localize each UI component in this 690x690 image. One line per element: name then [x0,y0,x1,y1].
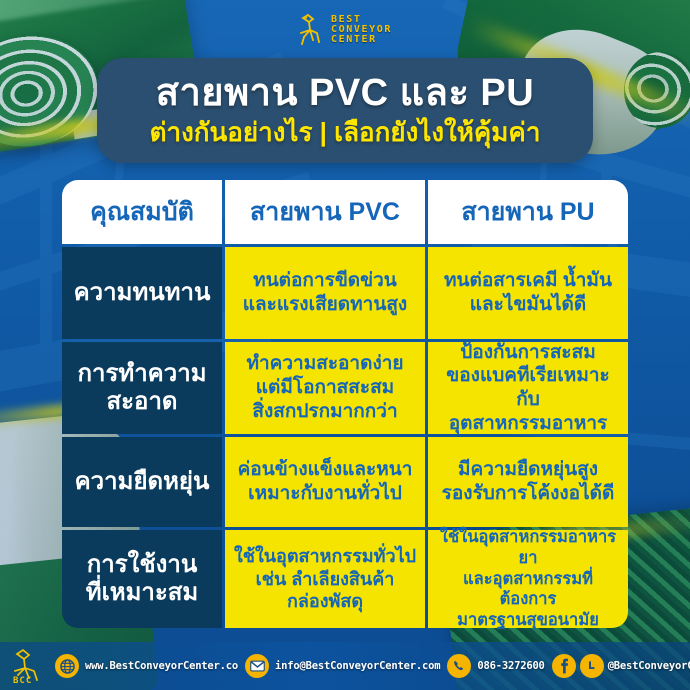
phone-number: 086-3272600 [477,660,544,672]
row-attribute-flexibility: ความยืดหยุ่น [62,437,222,527]
comparison-table: คุณสมบัติ สายพาน PVC สายพาน PU ความทนทาน… [62,180,628,628]
column-header-attribute: คุณสมบัติ [62,180,222,244]
cell-pvc-cleaning: ทำความสะอาดง่าย แต่มีโอกาสสะสม สิ่งสกปรก… [225,342,425,434]
text-line: ใช้ในอุตสาหกรรมอาหาร ยา [436,527,620,568]
cell-pu-durability: ทนต่อสารเคมี น้ำมัน และไขมันได้ดี [428,247,628,339]
cell-pvc-flexibility: ค่อนข้างแข็งและหนา เหมาะกับงานทั่วไป [225,437,425,527]
conveyor-mascot-icon [298,13,324,47]
cell-pu-cleaning: ป้องกันการสะสม ของแบคทีเรียเหมาะกับ อุตส… [428,342,628,434]
title-banner: สายพาน PVC และ PU ต่างกันอย่างไร | เลือก… [97,58,593,163]
footer-social[interactable]: @BestConveyorCenter [552,654,690,678]
table-header-row: คุณสมบัติ สายพาน PVC สายพาน PU [62,180,628,244]
text-line: แต่มีโอกาสสะสม [246,376,403,400]
text-line: เช่น ลำเลียงสินค้า [234,568,416,591]
email-address: info@BestConveyorCenter.com [275,660,440,672]
table-row: การทำความ สะอาด ทำความสะอาดง่าย แต่มีโอก… [62,342,628,434]
text-line: สิ่งสกปรกมากกว่า [246,400,403,424]
footer-email[interactable]: info@BestConveyorCenter.com [245,654,440,678]
table-row: ความทนทาน ทนต่อการขีดข่วน และแรงเสียดทาน… [62,247,628,339]
text-line: ป้องกันการสะสม [436,341,620,365]
row-attribute-application: การใช้งาน ที่เหมาะสม [62,530,222,628]
footer-contact-bar: BCC www.BestConveyorCenter.co info@BestC [0,642,690,690]
row-attribute-durability: ความทนทาน [62,247,222,339]
svg-text:BCC: BCC [13,676,32,685]
text-line: และไขมันได้ดี [444,293,612,317]
text-line: สะอาด [77,388,206,416]
text-line: เหมาะกับงานทั่วไป [238,482,413,506]
website-url: www.BestConveyorCenter.co [85,660,238,672]
text-line: ใช้ในอุตสาหกรรมทั่วไป [234,545,416,568]
text-line: ทนต่อสารเคมี น้ำมัน [444,269,612,293]
phone-icon [447,654,471,678]
facebook-icon[interactable] [552,654,576,678]
page-title: สายพาน PVC และ PU [156,74,534,114]
footer-website[interactable]: www.BestConveyorCenter.co [55,654,238,678]
cell-pvc-application: ใช้ในอุตสาหกรรมทั่วไป เช่น ลำเลียงสินค้า… [225,530,425,628]
text-line: ที่เหมาะสม [86,579,199,607]
cell-pvc-durability: ทนต่อการขีดข่วน และแรงเสียดทานสูง [225,247,425,339]
line-icon[interactable] [580,654,604,678]
table-row: การใช้งาน ที่เหมาะสม ใช้ในอุตสาหกรรมทั่ว… [62,530,628,628]
social-handle: @BestConveyorCenter [608,660,690,672]
logo-line-3: CENTER [331,35,392,45]
text-line: มีความยืดหยุ่นสูง [442,458,615,482]
row-attribute-cleaning: การทำความ สะอาด [62,342,222,434]
envelope-icon [245,654,269,678]
text-line: ทำความสะอาดง่าย [246,352,403,376]
bcc-logo-icon: BCC [9,647,47,685]
cell-pu-application: ใช้ในอุตสาหกรรมอาหาร ยา และอุตสาหกรรมที่… [428,530,628,628]
text-line: มาตรฐานสุขอนามัย [436,610,620,631]
column-header-pvc: สายพาน PVC [225,180,425,244]
text-line: อุตสาหกรรมอาหาร [436,412,620,436]
text-line: ทนต่อการขีดข่วน [243,269,407,293]
brand-logo: BEST CONVEYOR CENTER [0,8,690,52]
text-line: ความทนทาน [74,279,211,307]
text-line: กล่องพัสดุ [234,590,416,613]
text-line: ค่อนข้างแข็งและหนา [238,458,413,482]
text-line: ของแบคทีเรียเหมาะกับ [436,364,620,412]
text-line: ความยืดหยุ่น [75,468,210,496]
footer-brand-mark: BCC [8,646,48,686]
text-line: การทำความ [77,360,206,388]
column-header-pu: สายพาน PU [428,180,628,244]
text-line: การใช้งาน [86,551,199,579]
footer-phone[interactable]: 086-3272600 [447,654,544,678]
cell-pu-flexibility: มีความยืดหยุ่นสูง รองรับการโค้งงอได้ดี [428,437,628,527]
text-line: และอุตสาหกรรมที่ต้องการ [436,569,620,610]
page-subtitle: ต่างกันอย่างไร | เลือกยังไงให้คุ้มค่า [150,118,541,147]
table-row: ความยืดหยุ่น ค่อนข้างแข็งและหนา เหมาะกับ… [62,437,628,527]
text-line: และแรงเสียดทานสูง [243,293,407,317]
infographic-poster: BEST CONVEYOR CENTER สายพาน PVC และ PU ต… [0,0,690,690]
globe-icon [55,654,79,678]
text-line: รองรับการโค้งงอได้ดี [442,482,615,506]
